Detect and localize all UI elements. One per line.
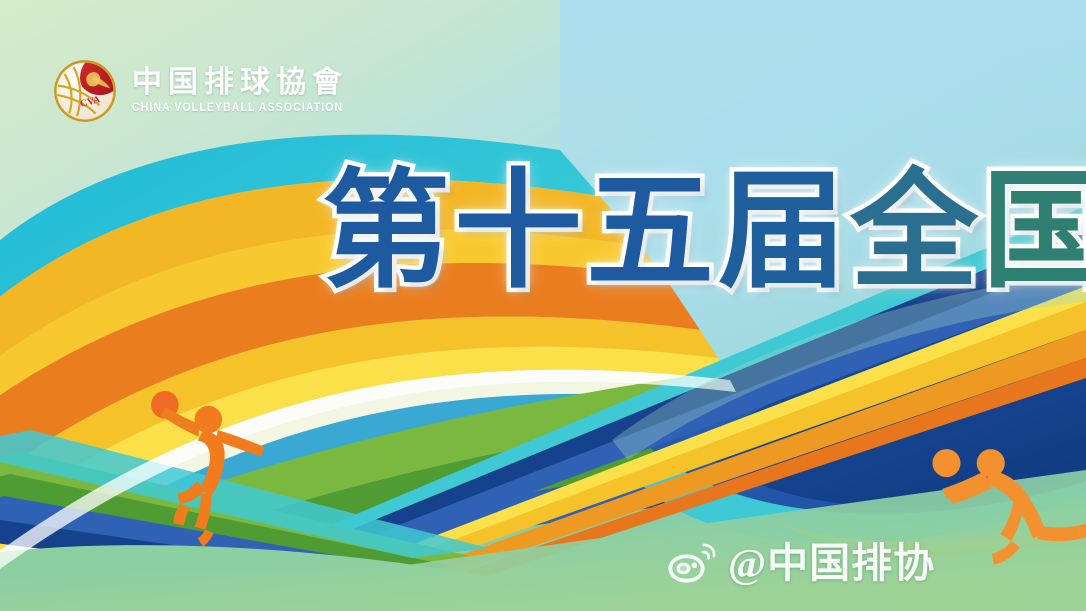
headline-char-2: 五 (586, 168, 718, 296)
weibo-watermark: @中国排协 (666, 541, 935, 585)
cva-logo-text: 中国排球協會 CHINA VOLLEYBALL ASSOCIATION (132, 67, 362, 115)
volleyball-ball-right (932, 449, 960, 477)
cva-name-cn: 中国排球協會 (132, 67, 362, 99)
headline-char-0: 第 (322, 168, 454, 296)
cva-volleyball-logo: CVA (52, 58, 118, 124)
headline-char-5: 国 (982, 168, 1086, 296)
headline-char-3: 届 (718, 168, 850, 296)
headline-char-4: 全 (850, 168, 982, 296)
event-poster: CVA 中国排球協會 CHINA VOLLEYBALL ASSOCIATION … (0, 0, 1086, 611)
poster-headline: 第十五届全国运 (322, 168, 1086, 296)
headline-char-1: 十 (454, 168, 586, 296)
cva-logo: CVA 中国排球協會 CHINA VOLLEYBALL ASSOCIATION (52, 58, 362, 124)
weibo-handle: @中国排协 (728, 543, 935, 584)
cva-name-en: CHINA VOLLEYBALL ASSOCIATION (132, 102, 343, 115)
weibo-icon (666, 541, 718, 585)
